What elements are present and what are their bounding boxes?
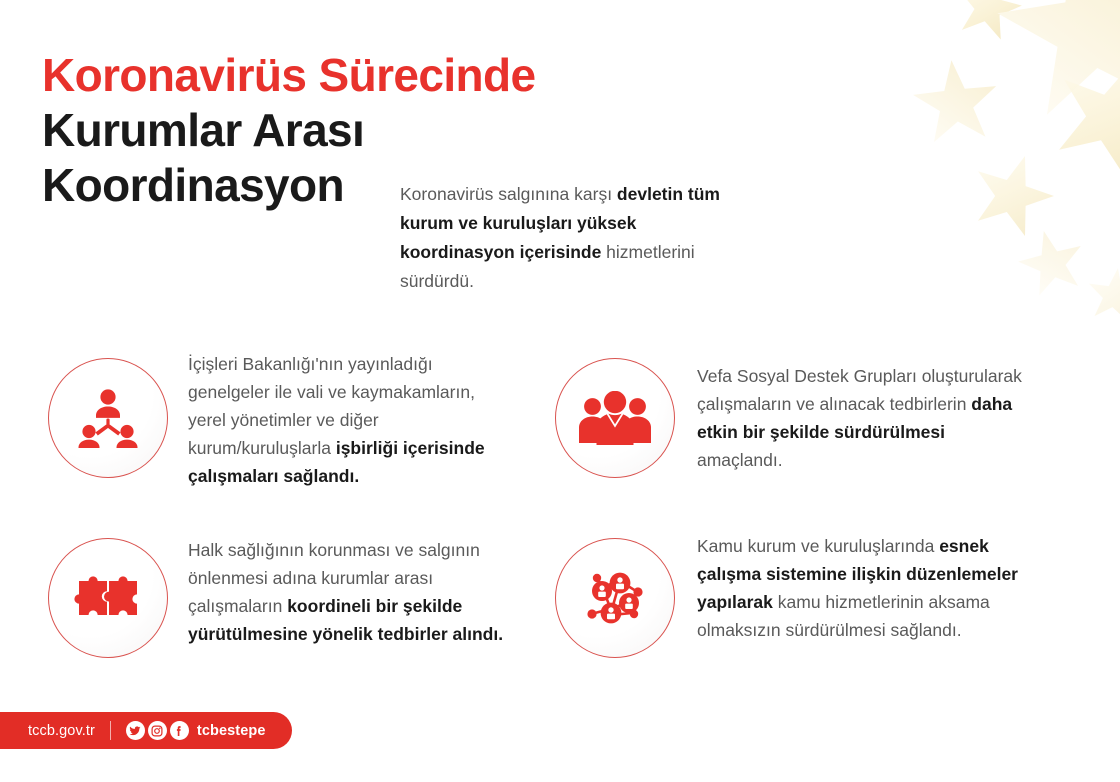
decorative-star: [964, 144, 1063, 241]
instagram-camera-glyph: [151, 725, 163, 737]
puzzle-pieces-icon: [73, 573, 143, 623]
star-group: [910, 0, 1120, 322]
info-card-1-text: İçişleri Bakanlığı'nın yayınladığı genel…: [188, 348, 508, 490]
decorative-star: [950, 0, 1028, 42]
info-card-4: Kamu kurum ve kuruluşlarında esnek çalış…: [555, 528, 1035, 658]
decorative-star: [910, 56, 1001, 144]
icon-circle-4: [555, 538, 675, 658]
icon-circle-3: [48, 538, 168, 658]
icon-circle-1: [48, 358, 168, 478]
footer-divider: [110, 721, 111, 740]
card-4-text-plain-leading: Kamu kurum ve kuruluşlarında: [697, 536, 939, 556]
info-card-3: Halk sağlığının korunması ve salgının ön…: [48, 528, 518, 658]
footer-website-link[interactable]: tccb.gov.tr: [28, 723, 95, 739]
decorative-star: [1084, 265, 1120, 323]
network-nodes-icon: [582, 567, 648, 629]
info-card-2: Vefa Sosyal Destek Grupları oluşturulara…: [555, 348, 1035, 478]
org-chart-people-icon: [75, 388, 141, 448]
decorative-star-field: [700, 0, 1120, 340]
people-group-icon: [579, 391, 651, 445]
intro-paragraph: Koronavirüs salgınına karşı devletin tüm…: [400, 180, 740, 296]
social-links: [126, 721, 189, 740]
info-card-3-text: Halk sağlığının korunması ve salgının ön…: [188, 528, 518, 648]
twitter-bird-glyph: [129, 725, 141, 737]
info-card-4-text: Kamu kurum ve kuruluşlarında esnek çalış…: [697, 528, 1027, 644]
intro-text-plain-leading: Koronavirüs salgınına karşı: [400, 184, 617, 204]
page-title-line-2: Kurumlar Arası: [42, 103, 536, 158]
info-card-2-text: Vefa Sosyal Destek Grupları oluşturulara…: [697, 348, 1027, 474]
twitter-icon[interactable]: [126, 721, 145, 740]
facebook-f-glyph: [173, 725, 185, 737]
facebook-icon[interactable]: [170, 721, 189, 740]
card-2-text-plain-trailing: amaçlandı.: [697, 450, 783, 470]
decorative-star: [1012, 223, 1090, 298]
decorative-star: [1039, 41, 1120, 184]
instagram-icon[interactable]: [148, 721, 167, 740]
infographic-canvas: Koronavirüs Sürecinde Kurumlar Arası Koo…: [0, 0, 1120, 782]
icon-circle-2: [555, 358, 675, 478]
page-title-line-1: Koronavirüs Sürecinde: [42, 48, 536, 103]
decorative-star: [988, 0, 1120, 120]
footer-social-handle[interactable]: tcbestepe: [197, 723, 266, 739]
footer-bar: tccb.gov.tr tcbestepe: [0, 712, 292, 749]
info-card-1: İçişleri Bakanlığı'nın yayınladığı genel…: [48, 348, 518, 490]
